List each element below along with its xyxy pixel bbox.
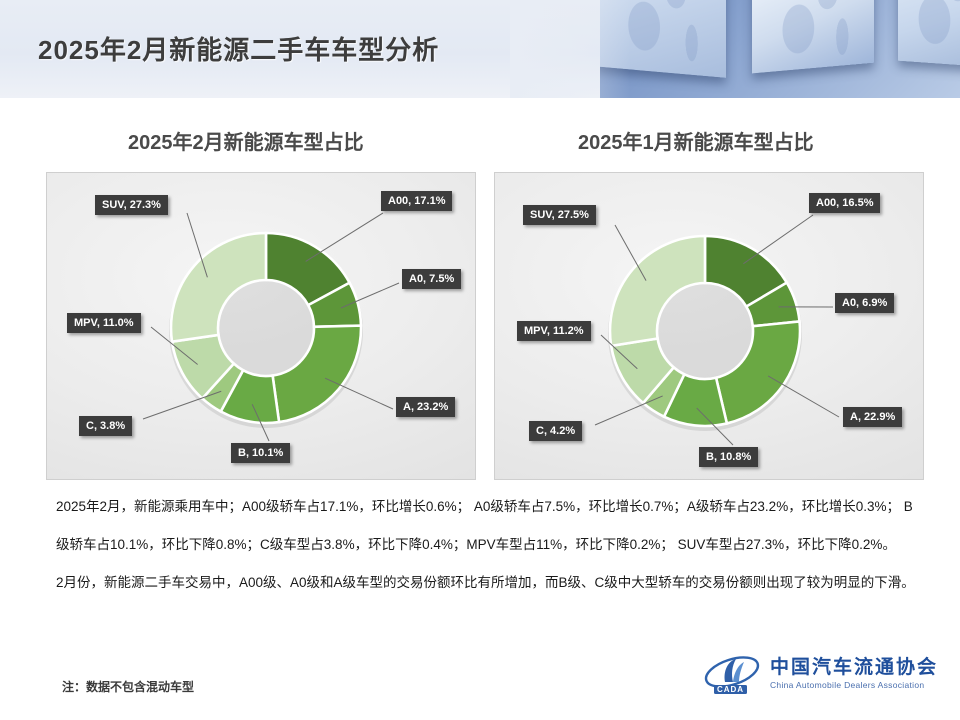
header-decoration-cubes	[600, 0, 960, 98]
world-map-texture-icon	[898, 0, 960, 67]
analysis-paragraph-1: 2025年2月，新能源乘用车中；A00级轿车占17.1%，环比增长0.6%； A…	[56, 488, 926, 564]
chart-panel-january: SUV, 27.5% A00, 16.5% A0, 6.9% A, 22.9% …	[494, 172, 924, 480]
slice-label-a00: A00, 17.1%	[381, 191, 452, 211]
page-header: 2025年2月新能源二手车车型分析	[0, 0, 960, 98]
slice-label-a: A, 23.2%	[396, 397, 455, 417]
slice-label-mpv: MPV, 11.0%	[67, 313, 141, 333]
analysis-paragraph-2: 2月份，新能源二手车交易中，A00级、A0级和A级车型的交易份额环比有所增加，而…	[56, 564, 926, 602]
cada-logo-chinese: 中国汽车流通协会	[770, 658, 938, 677]
slice-label-b: B, 10.1%	[231, 443, 290, 463]
world-map-texture-icon	[752, 0, 874, 73]
cada-logo-english: China Automobile Dealers Association	[770, 681, 938, 690]
slice-label-a0: A0, 6.9%	[835, 293, 894, 313]
slice-label-c: C, 4.2%	[529, 421, 582, 441]
leader-line-a00	[743, 215, 813, 264]
slice-label-c: C, 3.8%	[79, 416, 132, 436]
analysis-text: 2025年2月，新能源乘用车中；A00级轿车占17.1%，环比增长0.6%； A…	[56, 488, 926, 602]
cada-logo: CADA 中国汽车流通协会 China Automobile Dealers A…	[703, 652, 938, 696]
decorative-cube	[752, 0, 874, 73]
cada-emblem-icon: CADA	[703, 652, 761, 696]
slice-label-b: B, 10.8%	[699, 447, 758, 467]
cada-logo-text: 中国汽车流通协会 China Automobile Dealers Associ…	[770, 658, 938, 690]
chart-panel-february: SUV, 27.3% A00, 17.1% A0, 7.5% A, 23.2% …	[46, 172, 476, 480]
chart-title-february: 2025年2月新能源车型占比	[128, 126, 364, 155]
page-title: 2025年2月新能源二手车车型分析	[38, 30, 439, 67]
header-gradient-overlay	[510, 0, 630, 98]
footnote: 注：数据不包含混动车型	[62, 678, 194, 695]
donut-segments-february	[169, 233, 363, 428]
slice-label-a00: A00, 16.5%	[809, 193, 880, 213]
decorative-cube	[898, 0, 960, 67]
slice-label-a0: A0, 7.5%	[402, 269, 461, 289]
slice-label-suv: SUV, 27.3%	[95, 195, 168, 215]
chart-title-january: 2025年1月新能源车型占比	[578, 126, 814, 155]
leader-line-a00	[306, 213, 383, 261]
slice-label-suv: SUV, 27.5%	[523, 205, 596, 225]
slice-label-mpv: MPV, 11.2%	[517, 321, 591, 341]
svg-text:CADA: CADA	[717, 685, 744, 694]
slice-label-a: A, 22.9%	[843, 407, 902, 427]
